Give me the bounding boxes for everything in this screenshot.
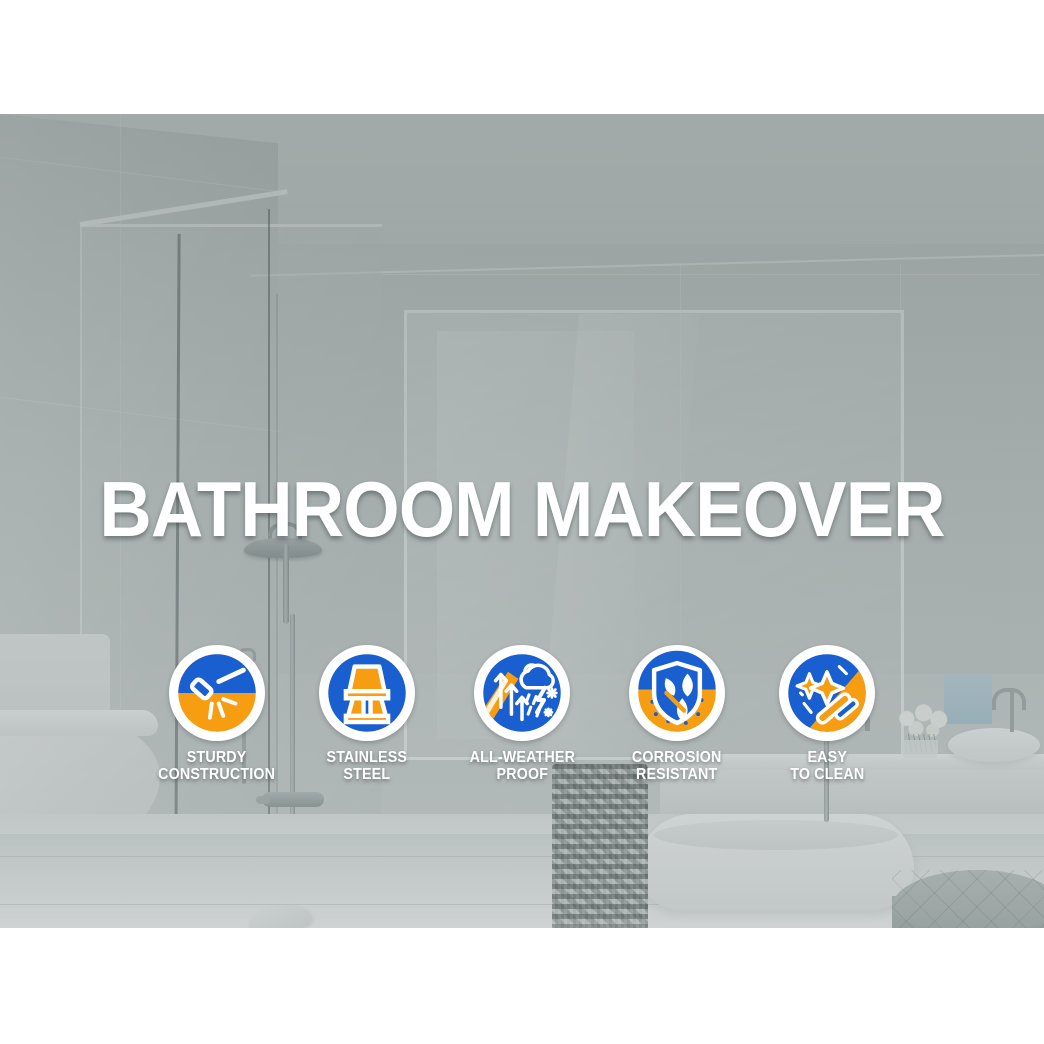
badge-disc: [779, 645, 875, 741]
feature-badge-stainless-steel[interactable]: STAINLESS STEEL: [292, 645, 442, 783]
promo-banner: BATHROOM MAKEOVER: [0, 0, 1044, 1044]
hammer-icon: [173, 649, 261, 737]
squeegee-sparkle-icon: [783, 649, 871, 737]
badge-label: ALL-WEATHER PROOF: [469, 749, 575, 783]
badge-disc: [319, 645, 415, 741]
feature-badge-corrosion-resistant[interactable]: CORROSION RESISTANT: [602, 645, 752, 783]
badge-label: STURDY CONSTRUCTION: [158, 749, 275, 783]
feature-badge-sturdy-construction[interactable]: STURDY CONSTRUCTION: [142, 645, 292, 783]
badge-label: CORROSION RESISTANT: [632, 749, 722, 783]
banner-overlay: BATHROOM MAKEOVER: [0, 0, 1044, 1044]
feature-badge-row: STURDY CONSTRUCTION STAINLESS STEEL: [0, 645, 1044, 783]
badge-disc: [629, 645, 725, 741]
badge-label: STAINLESS STEEL: [327, 749, 408, 783]
feature-badge-easy-to-clean[interactable]: EASY TO CLEAN: [752, 645, 902, 783]
weather-icon: [478, 649, 566, 737]
shield-droplet-icon: [633, 649, 721, 737]
badge-disc: [169, 645, 265, 741]
feature-badge-all-weather-proof[interactable]: ALL-WEATHER PROOF: [442, 645, 602, 783]
badge-disc: [474, 645, 570, 741]
anvil-icon: [323, 649, 411, 737]
badge-label: EASY TO CLEAN: [790, 749, 864, 783]
page-title: BATHROOM MAKEOVER: [37, 470, 1008, 548]
